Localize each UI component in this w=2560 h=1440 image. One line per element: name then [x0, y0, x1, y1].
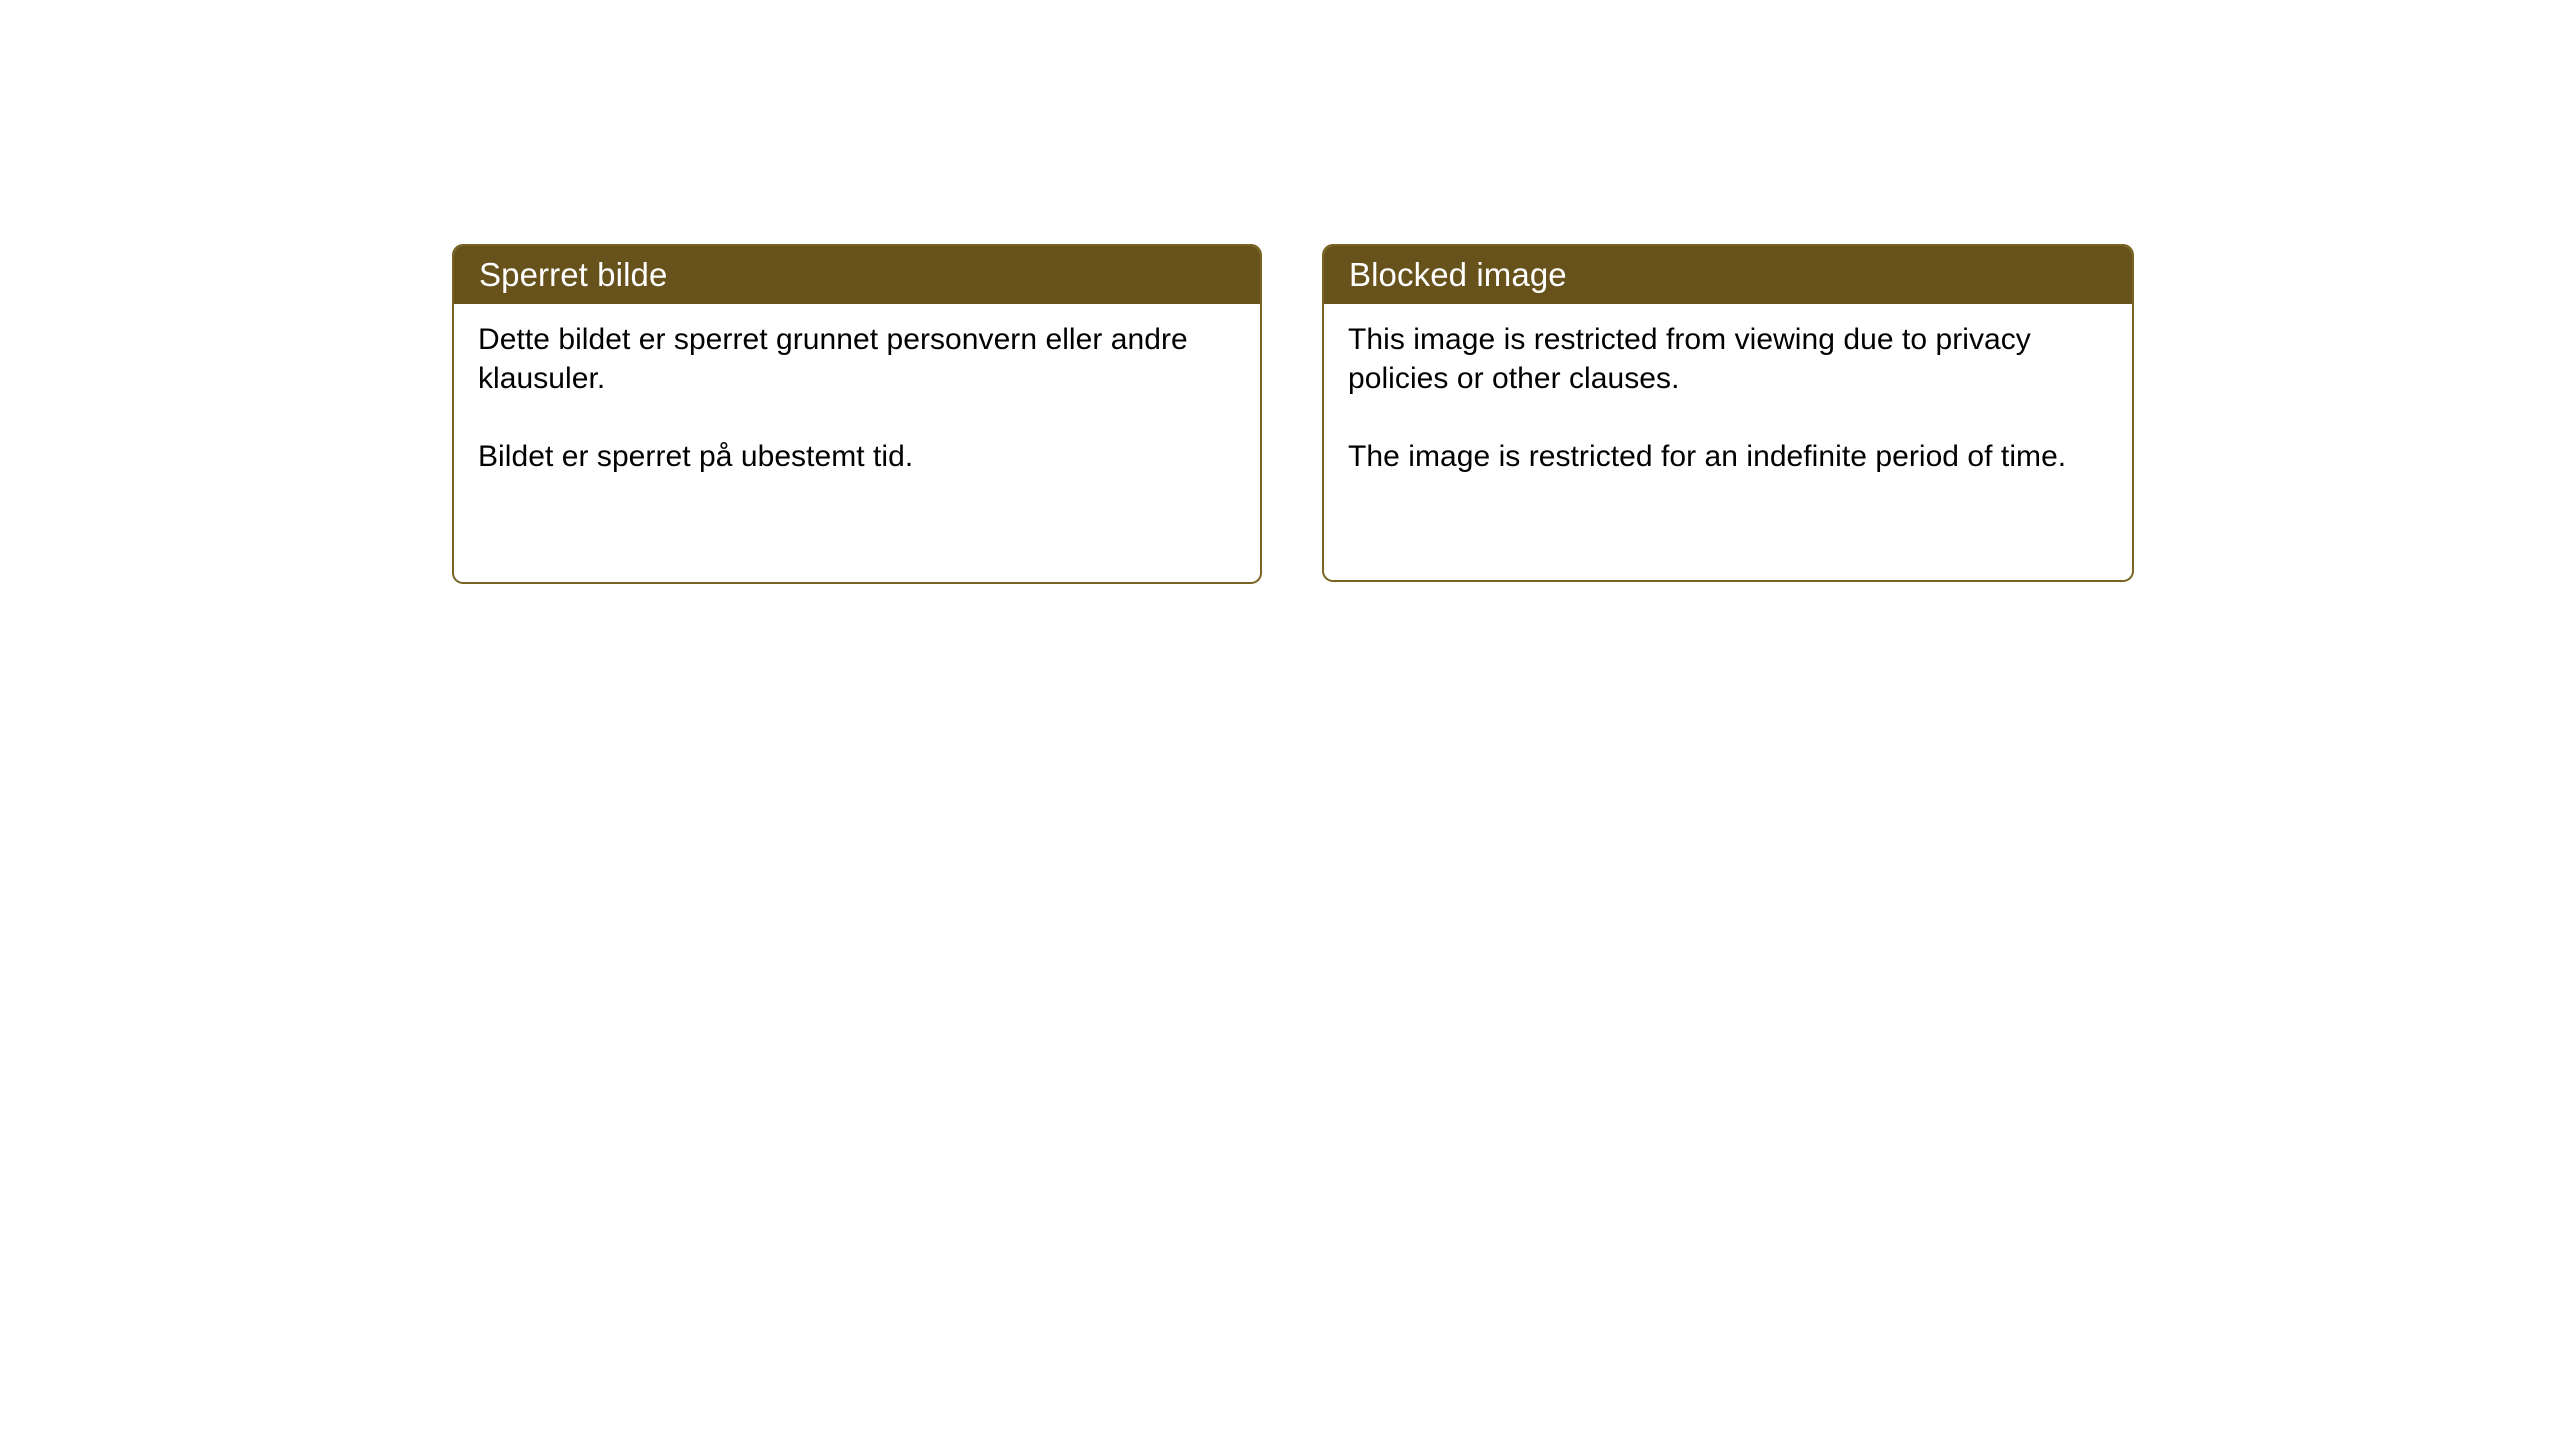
panel-title-norwegian: Sperret bilde — [454, 246, 1260, 304]
panel-paragraph-reason-english: This image is restricted from viewing du… — [1348, 320, 2108, 398]
paragraph-spacer — [478, 398, 1236, 437]
panel-title-english: Blocked image — [1324, 246, 2132, 304]
panel-paragraph-reason-norwegian: Dette bildet er sperret grunnet personve… — [478, 320, 1236, 398]
blocked-image-notice-english: Blocked image This image is restricted f… — [1322, 244, 2134, 582]
panel-paragraph-duration-norwegian: Bildet er sperret på ubestemt tid. — [478, 437, 1236, 476]
panel-paragraph-duration-english: The image is restricted for an indefinit… — [1348, 437, 2108, 476]
panel-body-english: This image is restricted from viewing du… — [1324, 304, 2132, 476]
paragraph-spacer — [1348, 398, 2108, 437]
panel-body-norwegian: Dette bildet er sperret grunnet personve… — [454, 304, 1260, 476]
page-canvas: Sperret bilde Dette bildet er sperret gr… — [0, 0, 2560, 1440]
blocked-image-notice-norwegian: Sperret bilde Dette bildet er sperret gr… — [452, 244, 1262, 584]
